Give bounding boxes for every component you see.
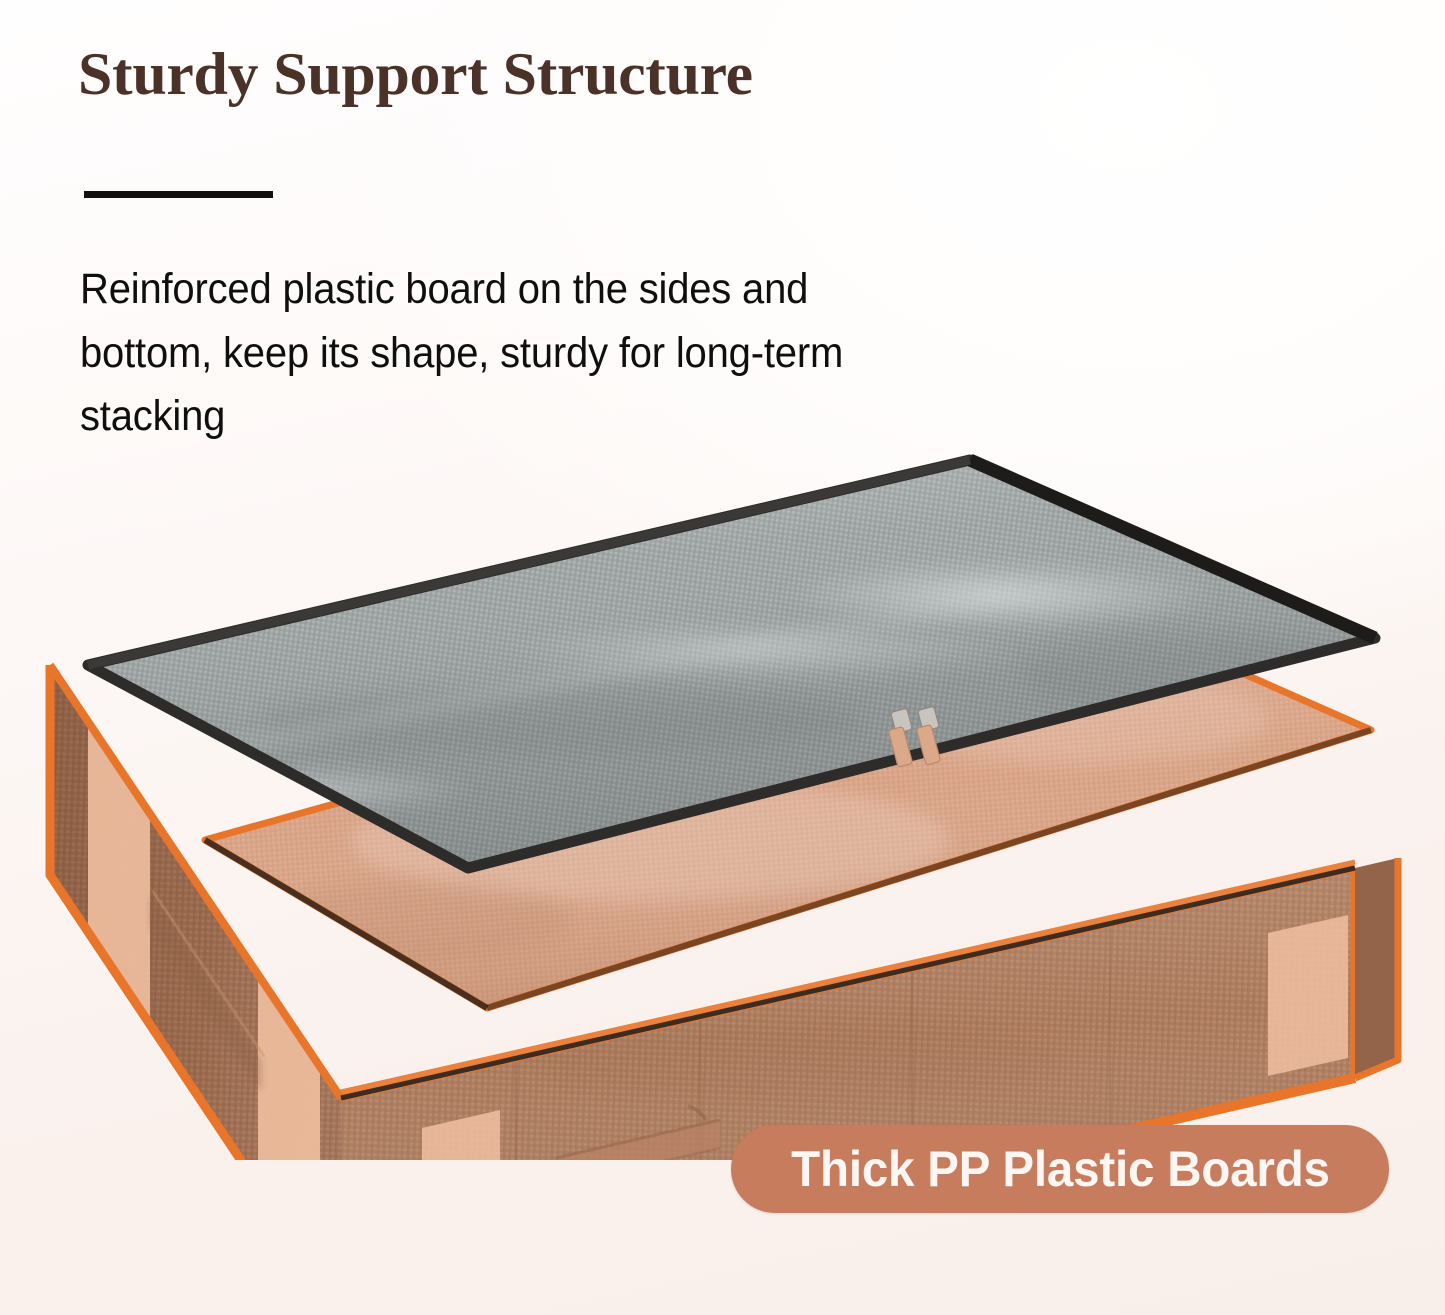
feature-badge: Thick PP Plastic Boards bbox=[731, 1125, 1389, 1213]
window-patch-left-b bbox=[258, 970, 320, 1160]
right-end-sliver bbox=[1355, 858, 1398, 1078]
mesh-lid-panel bbox=[88, 460, 1375, 868]
title-divider-rule bbox=[84, 191, 273, 198]
page-title: Sturdy Support Structure bbox=[78, 42, 1314, 107]
window-patch-right bbox=[1268, 915, 1348, 1076]
feature-description-line: bottom, keep its shape, sturdy for long-… bbox=[80, 322, 1010, 386]
product-feature-page: Sturdy Support Structure Reinforced plas… bbox=[0, 0, 1445, 1315]
product-illustration bbox=[0, 420, 1445, 1160]
feature-description-line: Reinforced plastic board on the sides an… bbox=[80, 258, 1010, 322]
feature-badge-label: Thick PP Plastic Boards bbox=[791, 1140, 1330, 1198]
